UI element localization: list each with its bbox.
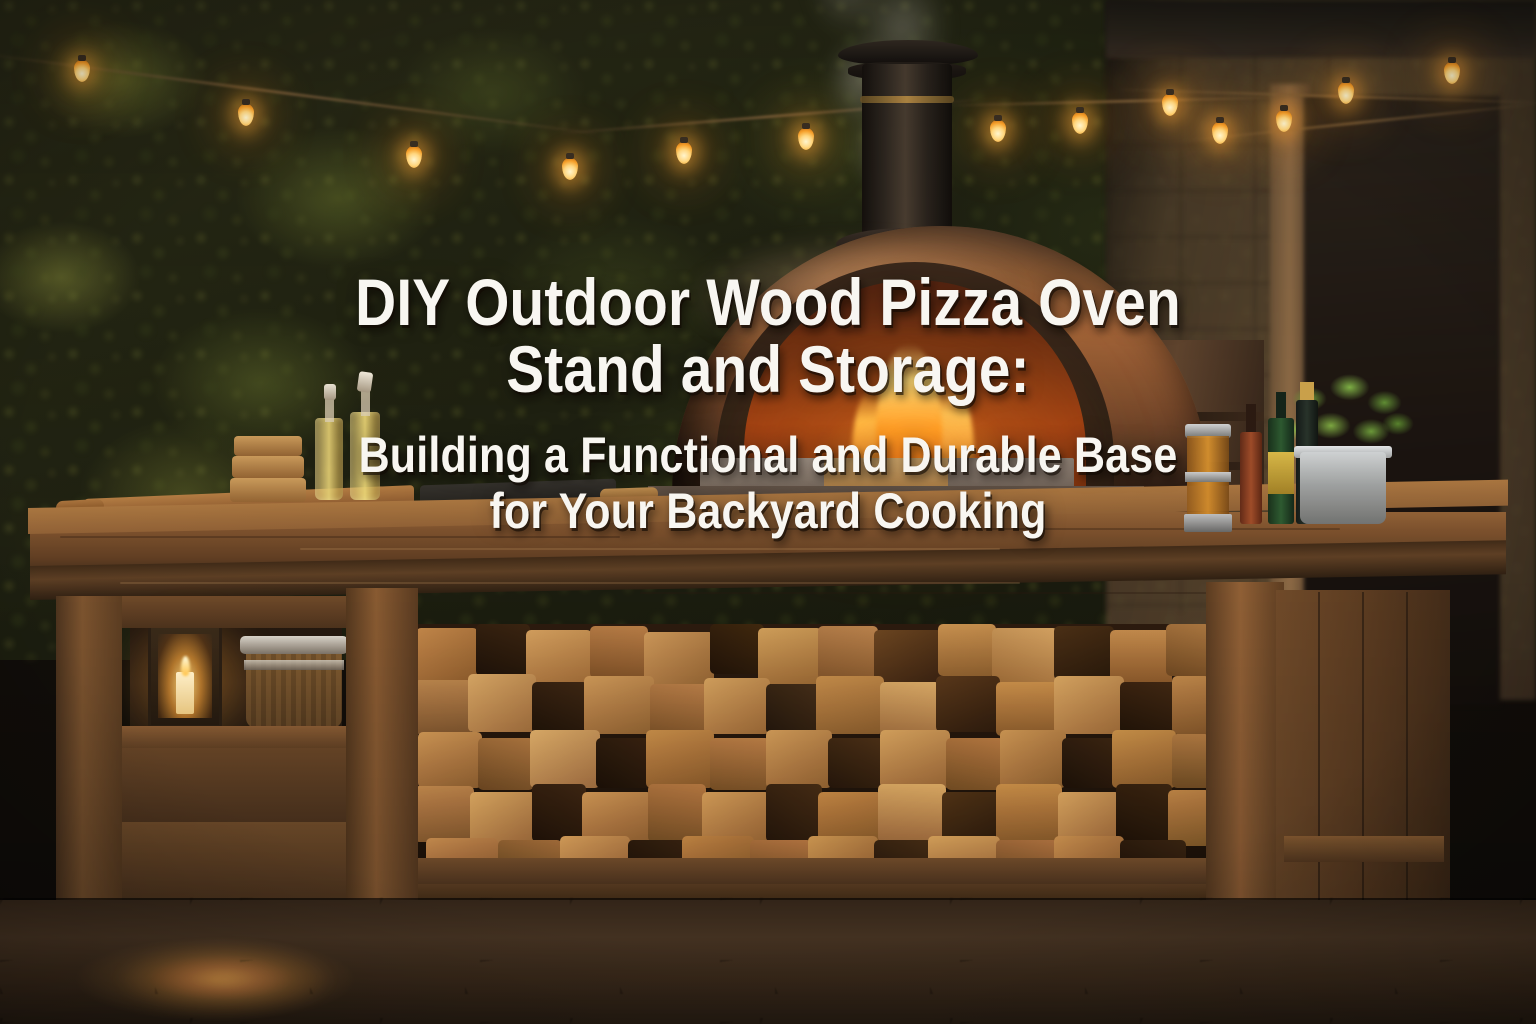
stand-leg-right bbox=[1206, 582, 1284, 934]
firewood-log bbox=[938, 624, 996, 676]
basket-rim bbox=[240, 636, 348, 654]
firewood-log bbox=[874, 630, 942, 688]
firewood-log bbox=[414, 786, 474, 842]
patio-light-reflection bbox=[120, 946, 330, 1012]
firewood-log bbox=[1172, 734, 1206, 788]
wooden-bowl bbox=[232, 456, 304, 478]
firewood-log bbox=[476, 624, 530, 676]
candle bbox=[176, 672, 194, 714]
stand-panel-left bbox=[118, 748, 350, 822]
firewood-log bbox=[828, 738, 884, 788]
bottle-label bbox=[1268, 452, 1294, 494]
firewood-log bbox=[596, 738, 650, 788]
wood-grain-line bbox=[120, 582, 1020, 584]
firewood-log bbox=[1172, 676, 1206, 734]
firewood-log bbox=[710, 738, 770, 790]
firewood-log bbox=[414, 680, 472, 734]
firewood-log bbox=[1000, 730, 1066, 788]
firewood-storage-bay bbox=[414, 624, 1206, 866]
spice-jar-ring bbox=[1185, 472, 1231, 482]
firewood-log bbox=[1054, 676, 1124, 734]
chimney-brass-band bbox=[860, 96, 954, 103]
firewood-log bbox=[532, 682, 588, 734]
firewood-log bbox=[418, 732, 482, 788]
firewood-log bbox=[818, 626, 878, 680]
firewood-log bbox=[648, 784, 706, 842]
galvanized-pot bbox=[1300, 452, 1386, 524]
firewood-log bbox=[646, 730, 714, 788]
firewood-log bbox=[766, 784, 822, 842]
firewood-log bbox=[880, 682, 940, 736]
olive-oil-bottle bbox=[315, 418, 343, 500]
firewood-log bbox=[766, 730, 832, 788]
candle-flame bbox=[181, 656, 190, 676]
firewood-log bbox=[1062, 738, 1116, 788]
firewood-log bbox=[758, 628, 822, 684]
firewood-log bbox=[946, 738, 1004, 790]
firewood-log bbox=[478, 738, 534, 790]
firewood-log bbox=[992, 628, 1058, 684]
firewood-log bbox=[766, 684, 820, 734]
firewood-log bbox=[996, 784, 1062, 842]
wood-grain-line bbox=[60, 536, 620, 538]
firewood-log bbox=[816, 676, 884, 734]
olive-oil-pour-spout bbox=[324, 384, 336, 400]
firewood-log bbox=[936, 676, 1000, 732]
chimney-pipe bbox=[862, 64, 952, 239]
firewood-log bbox=[1112, 730, 1176, 788]
hero-banner-image: DIY Outdoor Wood Pizza Oven Stand and St… bbox=[0, 0, 1536, 1024]
stand-rail-right bbox=[1284, 836, 1444, 862]
firewood-log bbox=[590, 626, 648, 678]
wood-grain-line bbox=[700, 528, 1340, 530]
bottle-red bbox=[1240, 432, 1262, 524]
house-roof-eave bbox=[1106, 0, 1536, 58]
firewood-log bbox=[650, 684, 708, 736]
firewood-log bbox=[1116, 784, 1172, 842]
panel-plank-seam bbox=[1362, 592, 1364, 922]
firewood-log bbox=[1168, 790, 1206, 846]
basket-band bbox=[244, 660, 344, 670]
stand-leg-center bbox=[346, 588, 418, 928]
firewood-log bbox=[468, 674, 536, 732]
firewood-log bbox=[532, 784, 586, 842]
wood-grain-line bbox=[300, 548, 1000, 550]
firewood-log bbox=[1120, 682, 1176, 734]
stand-top-rail-left bbox=[118, 596, 350, 628]
firewood-log bbox=[1054, 626, 1114, 680]
spice-jar-base bbox=[1184, 514, 1232, 532]
stand-leg-left bbox=[56, 596, 122, 926]
panel-plank-seam bbox=[1406, 592, 1408, 922]
firewood-log bbox=[880, 730, 950, 788]
wooden-bowl bbox=[234, 436, 302, 456]
panel-plank-seam bbox=[1318, 592, 1320, 922]
firewood-log bbox=[530, 730, 600, 788]
wooden-bowl bbox=[230, 478, 306, 502]
firewood-log bbox=[584, 676, 654, 734]
olive-oil-pour-spout bbox=[357, 371, 374, 393]
firewood-log bbox=[1166, 624, 1206, 676]
firewood-log bbox=[704, 678, 770, 734]
olive-oil-bottle bbox=[350, 412, 380, 500]
firewood-log bbox=[996, 682, 1058, 736]
firewood-log bbox=[710, 624, 764, 674]
firewood-log bbox=[878, 784, 946, 842]
